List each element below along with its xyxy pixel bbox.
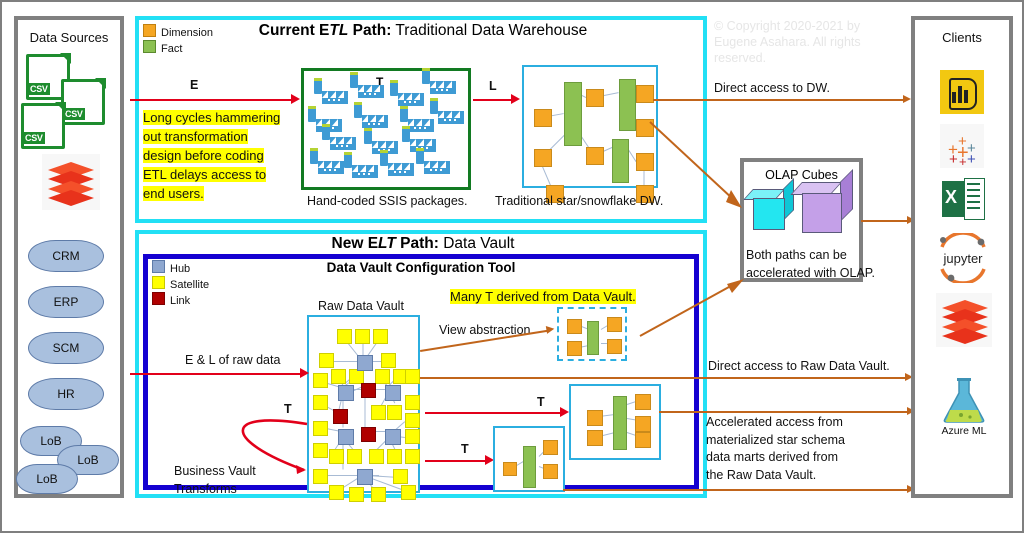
satellite-node [405, 449, 420, 464]
azure-ml-label: Azure ML [937, 425, 991, 437]
legend-item-fact: Fact [143, 40, 213, 56]
legend-label: Link [170, 295, 190, 307]
power-bi-icon [940, 70, 984, 114]
legend-item-hub: Hub [152, 260, 209, 276]
etl-legend: Dimension Fact [143, 24, 213, 56]
factory-icon [380, 150, 414, 178]
satellite-node [387, 405, 402, 420]
link-node [333, 409, 348, 424]
link-node [361, 427, 376, 442]
factory-icon [310, 148, 344, 176]
db-label: LoB [17, 472, 77, 486]
etl-title-italic: TL [329, 22, 348, 39]
diagram-canvas: © Copyright 2020-2021 byEugene Asahara. … [0, 0, 1024, 533]
satellite-node [405, 369, 420, 384]
satellite-node [349, 369, 364, 384]
database-erp: ERP [28, 286, 104, 318]
legend-label: Dimension [161, 27, 213, 39]
etl-step-e-label: E [190, 78, 198, 92]
olap-cube-cyan [753, 189, 797, 233]
csv-label: CSV [63, 108, 85, 120]
direct-dw-note: Direct access to DW. [714, 81, 830, 95]
databricks-icon [42, 154, 100, 210]
csv-file-icon: CSV [21, 103, 65, 149]
etl-title-plain: Traditional Data Warehouse [391, 22, 587, 39]
hub-node [338, 385, 354, 401]
dw-to-olap-arrow [650, 122, 750, 218]
hub-swatch [152, 260, 165, 273]
database-hr: HR [28, 378, 104, 410]
satellite-node [373, 329, 388, 344]
dimension-node [534, 149, 552, 167]
satellite-swatch [152, 276, 165, 289]
business-vault-note: Business VaultTransforms [174, 463, 256, 498]
db-label: ERP [29, 295, 103, 309]
dimension-node [635, 432, 651, 448]
link-swatch [152, 292, 165, 305]
copyright-notice: © Copyright 2020-2021 byEugene Asahara. … [714, 18, 914, 66]
fact-node [619, 79, 636, 131]
raw-data-vault-box [307, 315, 420, 493]
jupyter-icon: jupyter [934, 233, 992, 283]
accelerated-access-note: Accelerated access frommaterialized star… [706, 414, 845, 484]
etl-warning-note: Long cycles hammeringout transformationd… [143, 108, 280, 203]
jupyter-label: jupyter [934, 251, 992, 266]
etl-title-bold: Current E [259, 22, 330, 39]
satellite-node [347, 449, 362, 464]
satellite-node [393, 469, 408, 484]
dimension-node [635, 416, 651, 432]
data-sources-title: Data Sources [18, 30, 120, 45]
fact-node [613, 396, 627, 450]
factory-icon [354, 102, 388, 130]
elt-title-plain: Data Vault [439, 235, 515, 252]
db-label: HR [29, 387, 103, 401]
fact-node [564, 82, 582, 146]
tableau-icon: + + + + + + + [940, 124, 984, 168]
etl-step-l-label: L [489, 79, 497, 93]
traditional-dw-box [522, 65, 658, 188]
elt-path-title: New ELT Path: Data Vault [230, 235, 616, 253]
fact-node [587, 321, 599, 355]
databricks-icon [936, 293, 992, 347]
factory-icon [350, 72, 384, 100]
hub-node [357, 355, 373, 371]
dimension-node [503, 462, 517, 476]
etl-title-colon: Path: [348, 22, 391, 39]
olap-cube-purple [802, 182, 858, 238]
database-crm: CRM [28, 240, 104, 272]
satellite-node [337, 329, 352, 344]
csv-label: CSV [23, 132, 45, 144]
dimension-node [607, 317, 622, 332]
legend-item-satellite: Satellite [152, 276, 209, 292]
satellite-node [319, 353, 334, 368]
direct-raw-vault-note: Direct access to Raw Data Vault. [708, 359, 890, 373]
csv-label: CSV [28, 83, 50, 95]
dimension-node [636, 85, 654, 103]
factory-icon [416, 148, 450, 176]
olap-caption-text: Both paths can beaccelerated with OLAP. [746, 247, 875, 282]
hub-node [385, 429, 401, 445]
satellite-node [405, 413, 420, 428]
database-lob: LoB [16, 464, 78, 494]
hub-node [338, 429, 354, 445]
legend-label: Satellite [170, 279, 209, 291]
dimension-swatch [143, 24, 156, 37]
dimension-node [567, 319, 582, 334]
satellite-node [405, 395, 420, 410]
clients-title: Clients [915, 30, 1009, 45]
dimension-node [534, 109, 552, 127]
view-abstraction-box [557, 307, 627, 361]
satellite-node [401, 485, 416, 500]
dimension-node [587, 430, 603, 446]
materialized-star-box-large [569, 384, 661, 460]
link-node [361, 383, 376, 398]
satellite-node [313, 373, 328, 388]
csv-file-icon: CSV [61, 79, 105, 125]
factory-icon [314, 78, 348, 106]
dimension-node [586, 147, 604, 165]
vault-to-olap-arrow [626, 282, 746, 344]
db-label: SCM [29, 341, 103, 355]
satellite-node [371, 487, 386, 502]
satellite-node [375, 369, 390, 384]
hub-node [357, 469, 373, 485]
satellite-node [387, 449, 402, 464]
factory-icon [430, 98, 464, 126]
raw-data-vault-caption: Raw Data Vault [318, 299, 404, 313]
accelerated-access-text: Accelerated access frommaterialized star… [706, 414, 845, 484]
dw-caption: Traditional star/snowflake DW. [495, 194, 663, 208]
fact-swatch [143, 40, 156, 53]
dv-tool-title: Data Vault Configuration Tool [143, 260, 699, 275]
factory-icon [344, 152, 378, 180]
satellite-node [371, 405, 386, 420]
elt-t-label-3: T [461, 442, 469, 456]
dimension-node [543, 464, 558, 479]
satellite-node [355, 329, 370, 344]
legend-label: Hub [170, 263, 190, 275]
etl-warning-text: Long cycles hammeringout transformationd… [143, 108, 280, 203]
dimension-node [607, 339, 622, 354]
ssis-caption: Hand-coded SSIS packages. [307, 194, 468, 208]
materialized-star-box-small [493, 426, 565, 492]
elt-t-label-2: T [537, 395, 545, 409]
factory-icon [390, 80, 424, 108]
elt-title-colon: Path: [396, 235, 439, 252]
satellite-node [329, 485, 344, 500]
schema-edge [644, 170, 645, 186]
azure-ml-icon: Azure ML [937, 377, 991, 439]
elt-title-italic: LT [378, 235, 396, 252]
business-vault-text: Business VaultTransforms [174, 463, 256, 498]
fact-node [612, 139, 629, 183]
legend-label: Fact [161, 43, 182, 55]
legend-item-link: Link [152, 292, 209, 308]
data-vault-legend: Hub Satellite Link [152, 260, 209, 308]
fact-node [523, 446, 536, 488]
etl-path-title: Current ETL Path: Traditional Data Wareh… [230, 22, 616, 40]
dimension-node [543, 440, 558, 455]
hub-node [385, 385, 401, 401]
many-t-note: Many T derived from Data Vault. [450, 287, 636, 306]
satellite-node [381, 353, 396, 368]
olap-caption: Both paths can beaccelerated with OLAP. [746, 247, 875, 282]
dimension-node [567, 341, 582, 356]
database-scm: SCM [28, 332, 104, 364]
satellite-node [369, 449, 384, 464]
excel-icon: X [942, 178, 984, 220]
elt-title-bold: New E [332, 235, 379, 252]
db-label: CRM [29, 249, 103, 263]
satellite-node [405, 429, 420, 444]
satellite-node [331, 369, 346, 384]
dimension-node [587, 410, 603, 426]
raw-load-label: E & L of raw data [185, 353, 280, 367]
satellite-node [329, 449, 344, 464]
dimension-node [635, 394, 651, 410]
many-t-text: Many T derived from Data Vault. [450, 289, 636, 304]
dimension-node [586, 89, 604, 107]
elt-t-label-vault: T [284, 402, 292, 416]
satellite-node [349, 487, 364, 502]
legend-item-dimension: Dimension [143, 24, 213, 40]
factory-icon [422, 68, 456, 96]
